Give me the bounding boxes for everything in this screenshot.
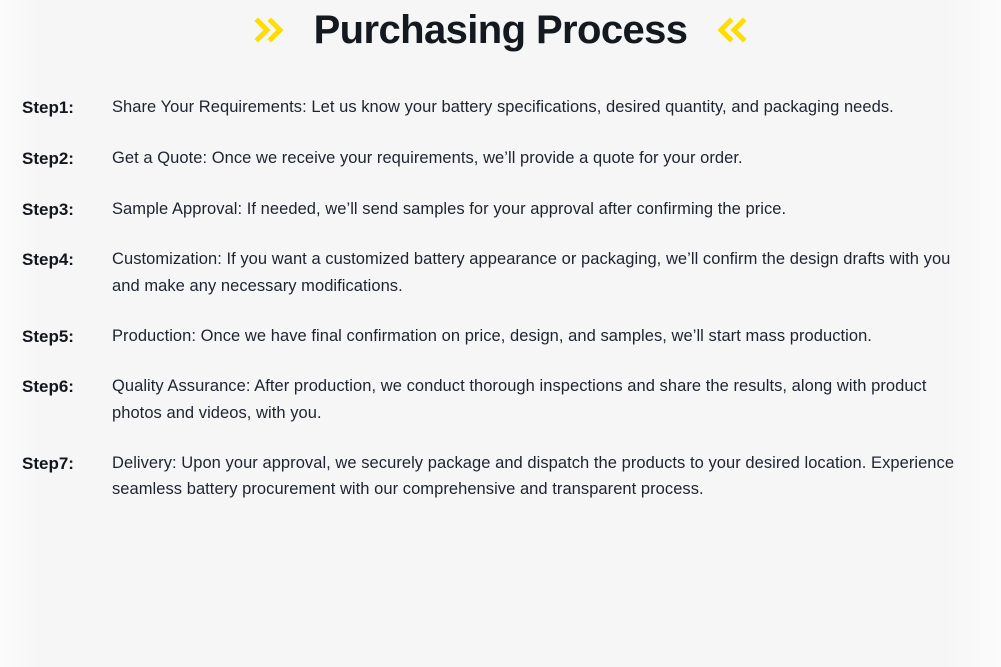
step-item: Step3: Sample Approval: If needed, we’ll… <box>0 196 1001 223</box>
step-item: Step7: Delivery: Upon your approval, we … <box>0 450 1001 502</box>
step-item: Step1: Share Your Requirements: Let us k… <box>0 94 1001 121</box>
step-label: Step5: <box>22 323 112 350</box>
step-item: Step2: Get a Quote: Once we receive your… <box>0 145 1001 172</box>
step-label: Step7: <box>22 450 112 477</box>
chevron-double-left-icon <box>713 17 747 43</box>
page-title: Purchasing Process <box>314 9 688 51</box>
step-item: Step5: Production: Once we have final co… <box>0 323 1001 350</box>
steps-list: Step1: Share Your Requirements: Let us k… <box>0 58 1001 502</box>
step-description: Share Your Requirements: Let us know you… <box>112 94 961 120</box>
purchasing-process-page: Purchasing Process Step1: Share Your Req… <box>0 0 1001 667</box>
step-description: Delivery: Upon your approval, we securel… <box>112 450 961 502</box>
step-description: Sample Approval: If needed, we’ll send s… <box>112 196 961 222</box>
step-description: Quality Assurance: After production, we … <box>112 373 961 425</box>
chevron-double-right-icon <box>254 17 288 43</box>
step-label: Step6: <box>22 373 112 400</box>
page-header: Purchasing Process <box>0 0 1001 58</box>
step-description: Customization: If you want a customized … <box>112 246 961 298</box>
step-label: Step2: <box>22 145 112 172</box>
step-label: Step4: <box>22 246 112 273</box>
step-label: Step1: <box>22 94 112 121</box>
step-description: Production: Once we have final confirmat… <box>112 323 961 349</box>
step-item: Step4: Customization: If you want a cust… <box>0 246 1001 298</box>
step-description: Get a Quote: Once we receive your requir… <box>112 145 961 171</box>
step-item: Step6: Quality Assurance: After producti… <box>0 373 1001 425</box>
step-label: Step3: <box>22 196 112 223</box>
